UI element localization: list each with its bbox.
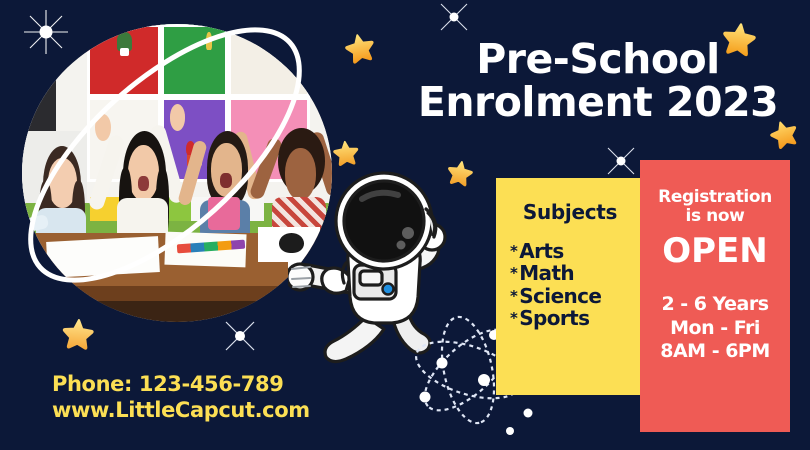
subject-item-sports: *Sports bbox=[510, 307, 644, 329]
registration-hours: 8AM - 6PM bbox=[640, 340, 790, 363]
page-title: Pre-School Enrolment 2023 bbox=[398, 38, 798, 125]
contact-phone: Phone: 123-456-789 bbox=[52, 372, 392, 398]
subject-item-arts: *Arts bbox=[510, 240, 644, 262]
asterisk-bullet: * bbox=[510, 309, 517, 327]
registration-ages: 2 - 6 Years bbox=[640, 293, 790, 316]
asterisk-bullet: * bbox=[510, 242, 517, 260]
subjects-panel: Subjects *Arts *Math *Science *Sports bbox=[496, 178, 644, 395]
subject-item-math: *Math bbox=[510, 262, 644, 284]
subject-label: Arts bbox=[519, 239, 563, 263]
classroom-photo bbox=[22, 24, 332, 322]
sparkle-icon-title-top bbox=[437, 0, 471, 34]
registration-status-open: OPEN bbox=[640, 231, 790, 271]
star-icon-top-left-mid bbox=[342, 30, 378, 66]
contact-website[interactable]: www.LittleCapcut.com bbox=[52, 398, 392, 424]
photo-circle-wrapper bbox=[22, 24, 332, 322]
contact-block: Phone: 123-456-789 www.LittleCapcut.com bbox=[52, 372, 392, 423]
star-icon-photo-edge bbox=[332, 139, 361, 168]
registration-days: Mon - Fri bbox=[640, 317, 790, 340]
poster-canvas: Pre-School Enrolment 2023 Subjects *Arts… bbox=[0, 0, 810, 450]
subject-label: Sports bbox=[519, 306, 589, 330]
subjects-list: *Arts *Math *Science *Sports bbox=[510, 240, 644, 330]
star-icon-center-upper bbox=[445, 158, 475, 188]
registration-line-2: is now bbox=[640, 207, 790, 226]
sparkle-icon-bottom-mid bbox=[222, 318, 258, 354]
registration-panel: Registration is now OPEN 2 - 6 Years Mon… bbox=[640, 160, 790, 432]
subject-label: Math bbox=[519, 261, 574, 285]
star-icon-bottom-left bbox=[61, 317, 95, 351]
sparkle-icon-mid-right bbox=[604, 144, 638, 178]
asterisk-bullet: * bbox=[510, 264, 517, 282]
subject-item-science: *Science bbox=[510, 285, 644, 307]
headline-line-1: Pre-School bbox=[398, 38, 798, 81]
subjects-title: Subjects bbox=[496, 200, 644, 224]
registration-line-1: Registration bbox=[640, 188, 790, 207]
asterisk-bullet: * bbox=[510, 287, 517, 305]
sparkle-icon-top-left bbox=[22, 8, 70, 56]
subject-label: Science bbox=[519, 284, 601, 308]
headline-line-2: Enrolment 2023 bbox=[398, 81, 798, 124]
